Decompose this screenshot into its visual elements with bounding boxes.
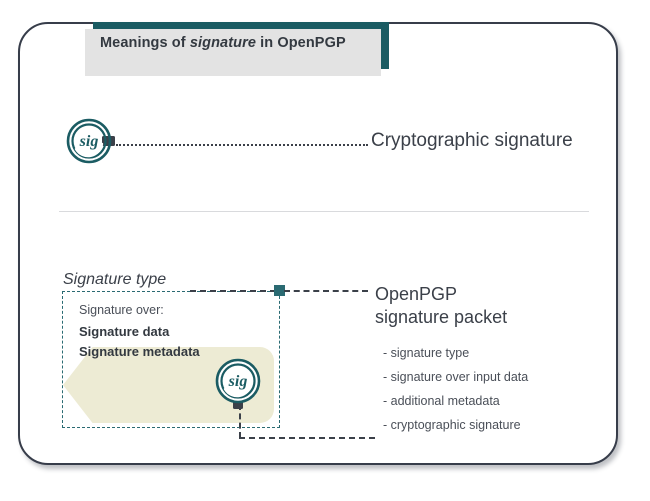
page-title: Meanings of signature in OpenPGP: [100, 33, 380, 53]
signature-metadata-item: Signature metadata: [79, 344, 200, 359]
svg-text:sig: sig: [79, 133, 99, 150]
packet-field-list: - signature type - signature over input …: [383, 341, 528, 437]
packet-title-line2: signature packet: [375, 306, 507, 329]
packet-title: OpenPGP signature packet: [375, 283, 507, 329]
title-emphasis: signature: [190, 35, 256, 51]
title-prefix: Meanings of: [100, 35, 190, 51]
signature-seal-icon: sig: [66, 116, 116, 166]
cryptographic-signature-label: Cryptographic signature: [371, 130, 573, 152]
connector-line-seal-horizontal: [239, 437, 375, 439]
packet-field-item: - cryptographic signature: [383, 413, 528, 437]
signature-seal-icon-tag: sig: [215, 358, 261, 414]
connector-line-box-left: [190, 290, 276, 292]
connector-line-to-packet: [284, 290, 368, 292]
svg-text:sig: sig: [228, 373, 248, 390]
signature-over-caption: Signature over:: [79, 303, 164, 317]
packet-title-line1: OpenPGP: [375, 283, 507, 306]
packet-field-item: - signature over input data: [383, 365, 528, 389]
title-suffix: in OpenPGP: [256, 35, 346, 51]
slide-canvas: Meanings of signature in OpenPGP sig Cry…: [0, 0, 650, 501]
connector-line-seal-vertical: [239, 404, 241, 438]
signature-type-label: Signature type: [63, 271, 166, 289]
connector-line-top: [116, 144, 368, 146]
signature-data-item: Signature data: [79, 324, 169, 339]
packet-field-item: - additional metadata: [383, 389, 528, 413]
section-divider: [59, 211, 589, 212]
packet-field-item: - signature type: [383, 341, 528, 365]
